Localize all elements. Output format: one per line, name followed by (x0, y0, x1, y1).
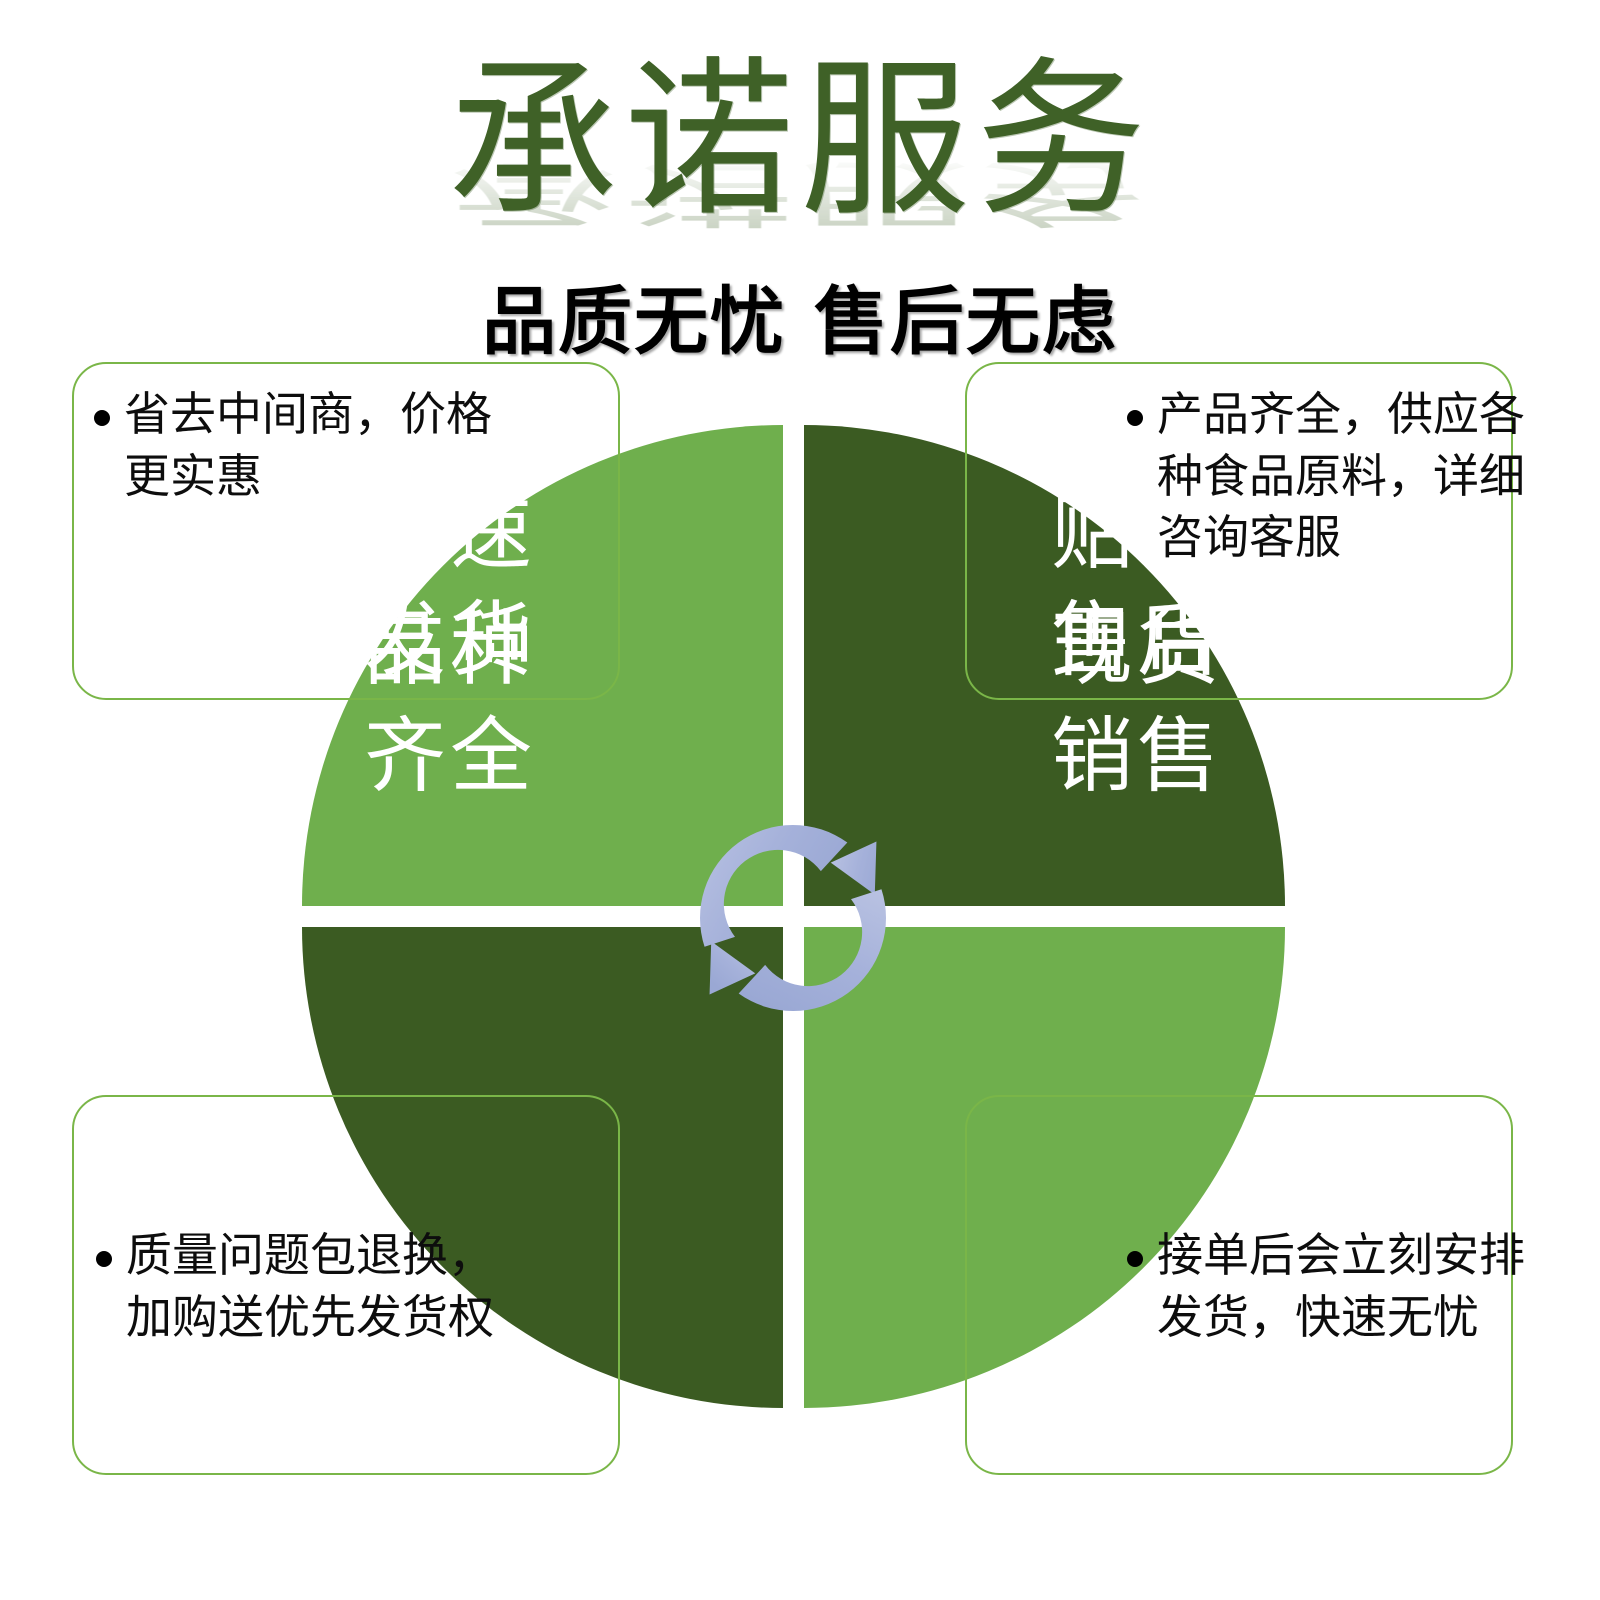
bullet-icon (96, 1251, 112, 1267)
callout-text-top-left: 省去中间商，价格更实惠 (124, 384, 514, 507)
callout-box-top-left[interactable]: 省去中间商，价格更实惠 (72, 362, 620, 700)
callout-box-top-right[interactable]: 产品齐全，供应各种食品原料，详细咨询客服 (965, 362, 1513, 700)
main-title: 承诺服务 (0, 52, 1600, 231)
bullet-icon (1127, 410, 1143, 426)
callout-body-top-right: 产品齐全，供应各种食品原料，详细咨询客服 (1127, 384, 1537, 569)
bullet-icon (94, 410, 110, 426)
sub-title: 品质无忧 售后无虑 (0, 262, 1600, 369)
callout-text-bottom-right: 接单后会立刻安排发货，快速无忧 (1157, 1225, 1537, 1348)
callout-body-bottom-right: 接单后会立刻安排发货，快速无忧 (1127, 1225, 1537, 1348)
callout-text-bottom-left: 质量问题包退换，加购送优先发货权 (126, 1225, 516, 1348)
callout-box-bottom-left[interactable]: 质量问题包退换，加购送优先发货权 (72, 1095, 620, 1475)
infographic-canvas: 承诺服务 承诺服务 品质无忧 售后无虑 现货 销售 品种 齐全 贴心 售后 快速… (0, 0, 1600, 1600)
callout-box-bottom-right[interactable]: 接单后会立刻安排发货，快速无忧 (965, 1095, 1513, 1475)
callout-body-top-left: 省去中间商，价格更实惠 (94, 384, 514, 507)
callout-text-top-right: 产品齐全，供应各种食品原料，详细咨询客服 (1157, 384, 1537, 569)
callout-body-bottom-left: 质量问题包退换，加购送优先发货权 (96, 1225, 516, 1348)
main-title-text: 承诺服务 (448, 52, 1152, 231)
bullet-icon (1127, 1251, 1143, 1267)
